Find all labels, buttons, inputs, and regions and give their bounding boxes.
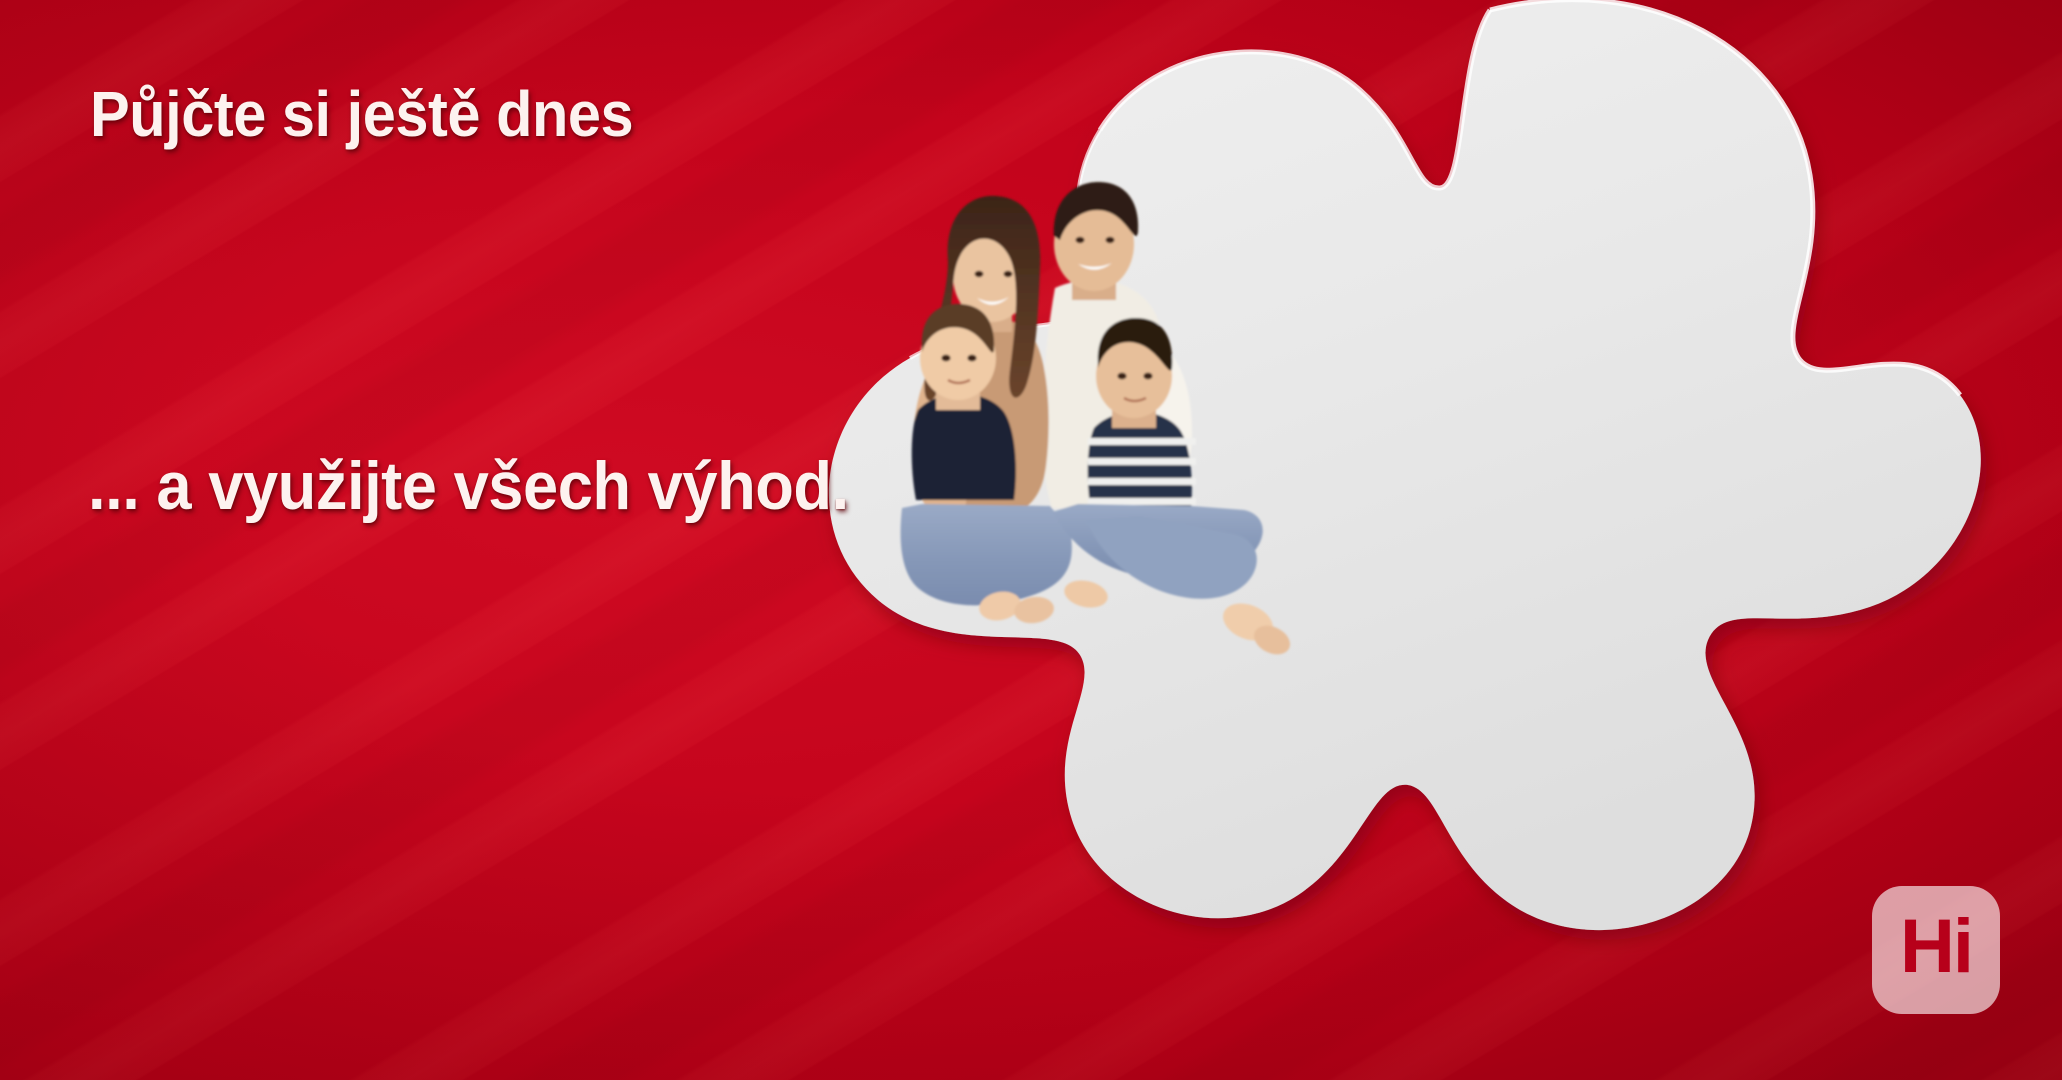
child-right-eye-right [1143,373,1152,380]
headline-primary: Půjčte si ještě dnes [90,82,633,146]
foot-3 [1062,577,1110,612]
headline-secondary: ... a využijte všech výhod. [88,452,849,520]
family-photo-illustration [840,170,1310,690]
father-eye-left [1076,237,1085,243]
family-photo [840,170,1310,690]
child-left-eye-left [941,355,950,362]
hi-logo[interactable]: Hi [1872,886,2000,1014]
father-eye-right [1106,237,1115,243]
child-right-eye-left [1117,373,1126,380]
mother-eye-left [975,271,984,277]
mother-eye-right [1004,271,1013,277]
child-left-eye-right [967,355,976,362]
hi-logo-text: Hi [1900,909,1972,985]
banner-ad: Půjčte si ještě dnes ... a využijte všec… [0,0,2062,1080]
mother-jeans [901,504,1072,605]
